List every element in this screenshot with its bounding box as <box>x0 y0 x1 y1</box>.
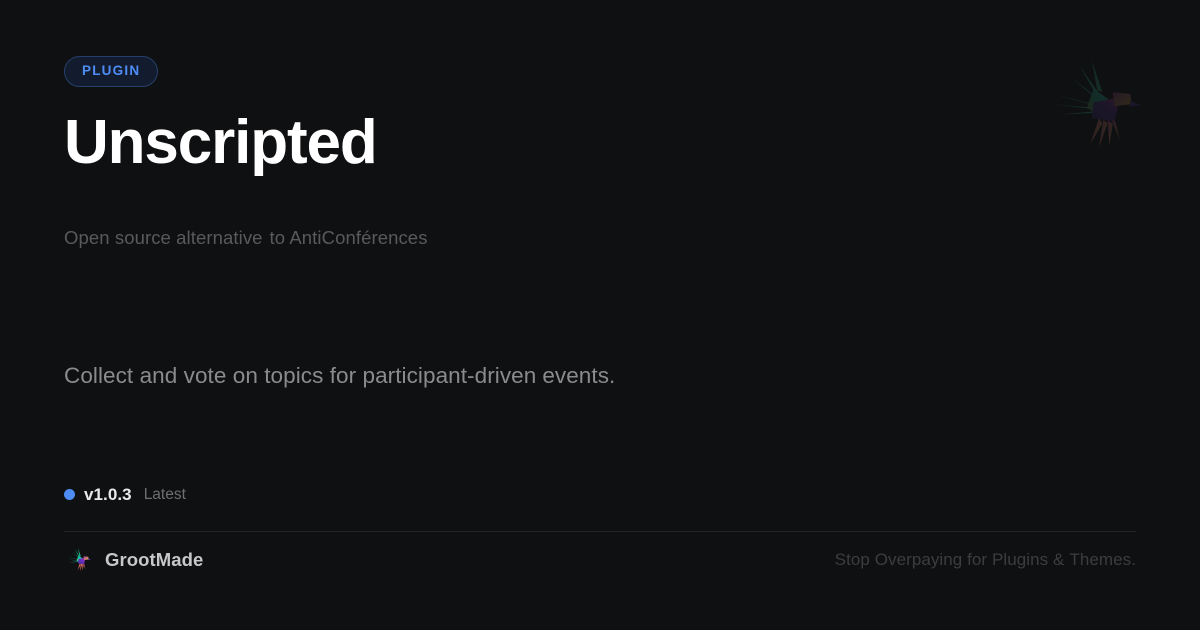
hummingbird-icon <box>64 546 92 574</box>
tagline-suffix: to AntiConférences <box>270 227 428 248</box>
footer-divider <box>64 531 1136 532</box>
footer-slogan-tail: Themes. <box>1069 550 1136 569</box>
brand: GrootMade <box>64 546 203 574</box>
footer-slogan-main: Stop Overpaying for Plugins & <box>835 550 1065 569</box>
hummingbird-watermark-icon <box>1040 52 1144 160</box>
description: Collect and vote on topics for participa… <box>64 361 615 391</box>
footer: GrootMade Stop Overpaying for Plugins &T… <box>64 546 1136 574</box>
version-row: v1.0.3 Latest <box>64 486 186 503</box>
plugin-type-badge: PLUGIN <box>64 56 158 87</box>
description-main: Collect and vote on topics for participa… <box>64 363 536 388</box>
tagline: Open source alternativeto AntiConférence… <box>64 225 428 251</box>
plugin-preview-card: PLUGIN Unscripted Open source alternativ… <box>0 0 1200 630</box>
status-dot-icon <box>64 489 75 500</box>
footer-slogan: Stop Overpaying for Plugins &Themes. <box>835 550 1136 570</box>
description-tail: events. <box>542 363 615 388</box>
page-title: Unscripted <box>64 108 377 177</box>
badge-row: PLUGIN <box>64 56 158 87</box>
version-number: v1.0.3 <box>84 486 132 503</box>
brand-name: GrootMade <box>105 549 203 571</box>
tagline-prefix: Open source alternative <box>64 227 263 248</box>
version-latest-tag: Latest <box>144 487 186 503</box>
